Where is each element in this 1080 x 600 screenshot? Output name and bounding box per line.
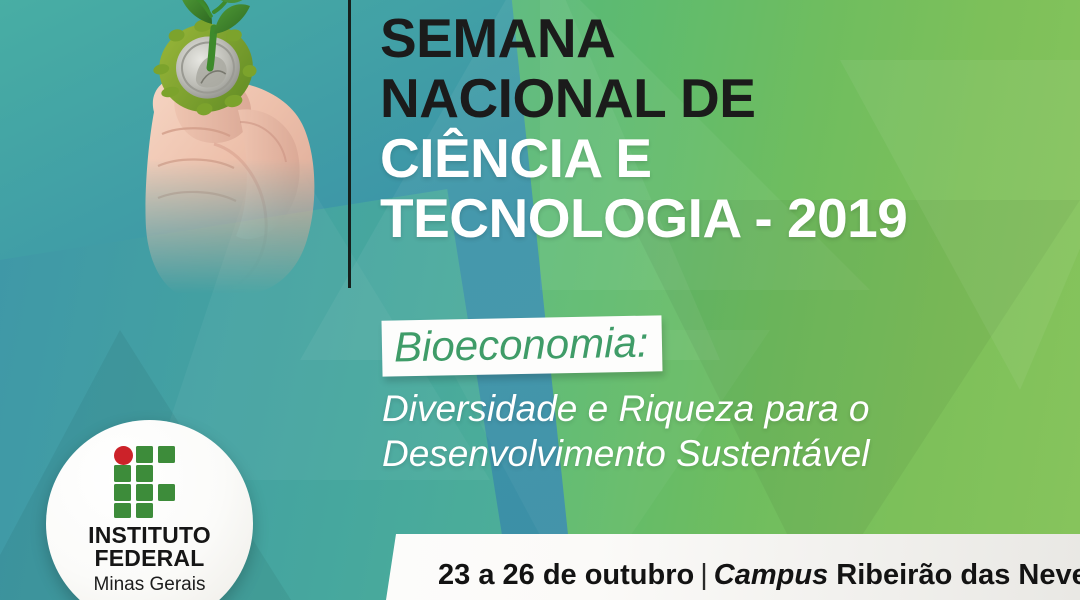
theme-highlight-text: Bioeconomia: [394, 320, 649, 371]
footer-info: 23 a 26 de outubro|Campus Ribeirão das N… [438, 558, 1080, 592]
headline-line-2: NACIONAL DE [380, 68, 1040, 128]
headline-line-4: TECNOLOGIA - 2019 [380, 188, 1040, 248]
theme-subtitle-line-2: Desenvolvimento Sustentável [382, 431, 1022, 476]
hand-holding-coin-sprout-image [118, 0, 378, 294]
if-grid-logo-icon [114, 446, 186, 518]
logo-red-circle [114, 446, 133, 465]
theme-subtitle: Diversidade e Riqueza para o Desenvolvim… [382, 386, 1022, 476]
footer-dates: 23 a 26 de outubro [438, 559, 694, 591]
logo-institute-line-2: FEDERAL [46, 547, 253, 570]
theme-block: Bioeconomia: Diversidade e Riqueza para … [382, 318, 1022, 476]
headline-line-1: SEMANA [380, 8, 1040, 68]
footer-campus-word: Campus [714, 559, 828, 591]
logo-wordmark: INSTITUTO FEDERAL Minas Gerais [46, 524, 253, 595]
vertical-divider [348, 0, 351, 288]
headline-line-3: CIÊNCIA E [380, 128, 1040, 188]
theme-highlight-box: Bioeconomia: [381, 315, 663, 376]
headline-block: SEMANA NACIONAL DE CIÊNCIA E TECNOLOGIA … [380, 8, 1040, 248]
logo-state: Minas Gerais [46, 575, 253, 595]
footer-campus-name: Ribeirão das Neves [836, 559, 1080, 591]
poster-canvas: SEMANA NACIONAL DE CIÊNCIA E TECNOLOGIA … [0, 0, 1080, 600]
footer-separator: | [694, 559, 714, 591]
logo-institute-line-1: INSTITUTO [46, 524, 253, 547]
theme-subtitle-line-1: Diversidade e Riqueza para o [382, 386, 1022, 431]
